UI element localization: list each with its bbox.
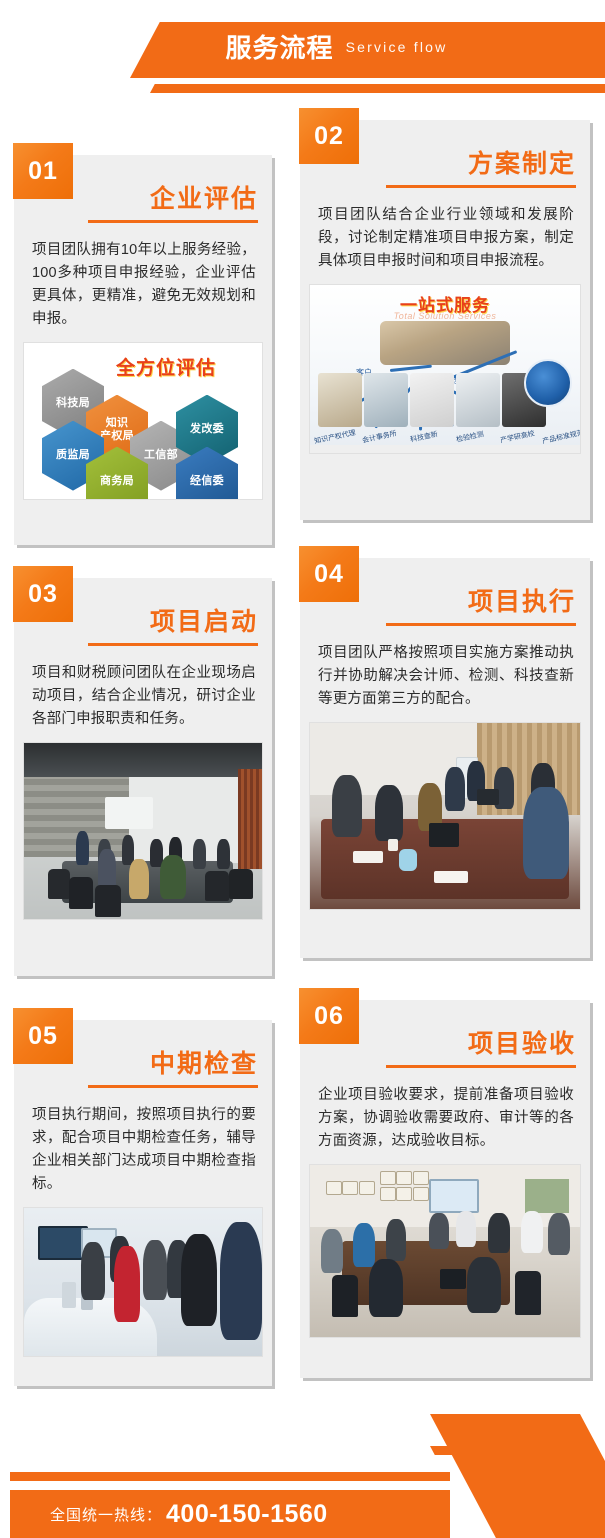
chair	[95, 885, 121, 917]
onestop-node-1	[318, 373, 362, 427]
onestop-caption-6: 产品标准规范	[541, 427, 580, 444]
green-board	[525, 1179, 569, 1213]
person	[321, 1229, 343, 1273]
person	[386, 1219, 406, 1261]
hexagon-evaluation-graphic: 全方位评估 科技局 知识产权局 质监局 工信部 商务局 发改委 经信委	[24, 343, 262, 499]
step-description: 企业项目验收要求，提前准备项目验收方案，协调验收需要政府、审计等的各方面资源，达…	[300, 1068, 590, 1165]
hotline-label: 全国统一热线：	[50, 1504, 162, 1525]
person-navy-jacket	[220, 1222, 262, 1340]
person-red-coat	[114, 1246, 140, 1322]
onestop-hero-photo	[380, 321, 510, 365]
product-display	[62, 1282, 76, 1308]
person	[129, 859, 149, 899]
step-card-03[interactable]: 03 项目启动 项目和财税顾问团队在企业现场启动项目，结合企业情况，研讨企业各部…	[14, 578, 272, 976]
onestop-node-3	[410, 373, 454, 427]
footer-band-diagonal	[430, 1414, 605, 1538]
person	[353, 1223, 375, 1267]
person-green-jacket	[160, 855, 186, 899]
laptop	[440, 1269, 466, 1289]
onestop-caption-5: 产学研高校	[499, 428, 535, 445]
step-description: 项目执行期间，按照项目执行的要求，配合项目中期检查任务，辅导企业相关部门达成项目…	[14, 1088, 272, 1208]
hotline-block: 全国统一热线： 400-150-1560	[50, 1490, 328, 1538]
person	[429, 1213, 449, 1249]
step-number-badge: 05	[13, 1008, 73, 1064]
chair	[48, 869, 70, 899]
office-meeting-photo	[310, 723, 580, 909]
onestop-arrow-1	[390, 364, 432, 371]
person-foreground	[369, 1259, 403, 1317]
footer-stripe	[10, 1472, 450, 1481]
hexagon-chart-title: 全方位评估	[116, 353, 216, 380]
step-description: 项目团队严格按照项目实施方案推动执行并协助解决会计师、检测、科技查新等更方面第三…	[300, 626, 590, 723]
page-title-en: Service flow	[346, 39, 448, 55]
certificate-frame	[413, 1187, 429, 1201]
page-footer: 全国统一热线： 400-150-1560	[0, 1400, 605, 1538]
service-flow-infographic: 服务流程Service flow 01 企业评估 项目团队拥有10年以上服务经验…	[0, 0, 605, 1538]
person	[445, 767, 465, 811]
wood-panel	[238, 769, 262, 869]
onestop-caption-1: 知识产权代理	[313, 427, 356, 444]
step-card-02[interactable]: 02 方案制定 项目团队结合企业行业领域和发展阶段，讨论制定精准项目申报方案，制…	[300, 120, 590, 520]
person	[217, 839, 230, 869]
certificate-frame	[380, 1171, 396, 1185]
onestop-caption-4: 检验检测	[455, 429, 484, 445]
step-card-05[interactable]: 05 中期检查 项目执行期间，按照项目执行的要求，配合项目中期检查任务，辅导企业…	[14, 1020, 272, 1386]
page-title-cn: 服务流程	[226, 33, 334, 63]
person-black-jacket	[181, 1234, 217, 1326]
person-blue-shirt	[523, 787, 569, 879]
person	[375, 785, 403, 841]
ceiling	[24, 743, 262, 777]
chair	[205, 871, 229, 901]
person	[81, 1242, 105, 1300]
onestop-node-2	[364, 373, 408, 427]
header-band-secondary	[150, 84, 605, 93]
document-stack	[434, 871, 468, 883]
water-bottle	[399, 849, 417, 871]
person	[193, 839, 206, 869]
certificate-frame	[326, 1181, 342, 1195]
person	[548, 1213, 570, 1255]
document-stack	[353, 851, 383, 863]
onestop-caption-3: 科技查新	[409, 429, 438, 445]
step-card-04[interactable]: 04 项目执行 项目团队严格按照项目实施方案推动执行并协助解决会计师、检测、科技…	[300, 558, 590, 958]
person	[122, 835, 134, 865]
certificate-frame	[359, 1181, 375, 1195]
onestop-caption-2: 会计事务所	[361, 428, 397, 445]
boardroom-acceptance-photo	[310, 1165, 580, 1337]
laptop	[477, 789, 499, 805]
onestop-subtitle: Total Solution Services	[310, 311, 580, 321]
onestop-certification-seal	[524, 359, 572, 407]
person	[76, 831, 89, 865]
person	[332, 775, 362, 837]
step-number-badge: 03	[13, 566, 73, 622]
step-number-badge: 01	[13, 143, 73, 199]
chair	[229, 869, 253, 899]
step-description: 项目团队结合企业行业领域和发展阶段，讨论制定精准项目申报方案，制定具体项目申报时…	[300, 188, 590, 285]
chair	[332, 1275, 358, 1317]
certificate-frame	[342, 1181, 358, 1195]
whiteboard	[105, 797, 153, 829]
step-number-badge: 02	[299, 108, 359, 164]
page-title: 服务流程Service flow	[0, 28, 605, 65]
person	[456, 1211, 476, 1247]
presentation-screen	[429, 1179, 479, 1213]
laptop	[429, 823, 459, 847]
person	[488, 1213, 510, 1253]
person-foreground	[467, 1257, 501, 1313]
conference-room-photo	[24, 743, 262, 919]
cup	[388, 839, 398, 851]
onestop-node-4	[456, 373, 500, 427]
certificate-frame	[396, 1187, 412, 1201]
step-card-01[interactable]: 01 企业评估 项目团队拥有10年以上服务经验，100多种项目申报经验，企业评估…	[14, 155, 272, 545]
certificate-frame	[413, 1171, 429, 1185]
chair	[515, 1271, 541, 1315]
page-header: 服务流程Service flow	[0, 0, 605, 112]
step-card-06[interactable]: 06 项目验收 企业项目验收要求，提前准备项目验收方案，协调验收需要政府、审计等…	[300, 1000, 590, 1378]
step-description: 项目团队拥有10年以上服务经验，100多种项目申报经验，企业评估更具体，更精准，…	[14, 223, 272, 343]
person	[521, 1211, 543, 1253]
step-number-badge: 06	[299, 988, 359, 1044]
certificate-frame	[396, 1171, 412, 1185]
person	[143, 1240, 167, 1300]
step-description: 项目和财税顾问团队在企业现场启动项目，结合企业情况，研讨企业各部门申报职责和任务…	[14, 646, 272, 743]
hotline-number[interactable]: 400-150-1560	[166, 1500, 328, 1529]
chair	[69, 877, 93, 909]
showroom-visit-photo	[24, 1208, 262, 1356]
one-stop-service-graphic: 一站式服务 Total Solution Services 客户 项目经理 知识…	[310, 285, 580, 453]
certificate-frame	[380, 1187, 396, 1201]
step-number-badge: 04	[299, 546, 359, 602]
